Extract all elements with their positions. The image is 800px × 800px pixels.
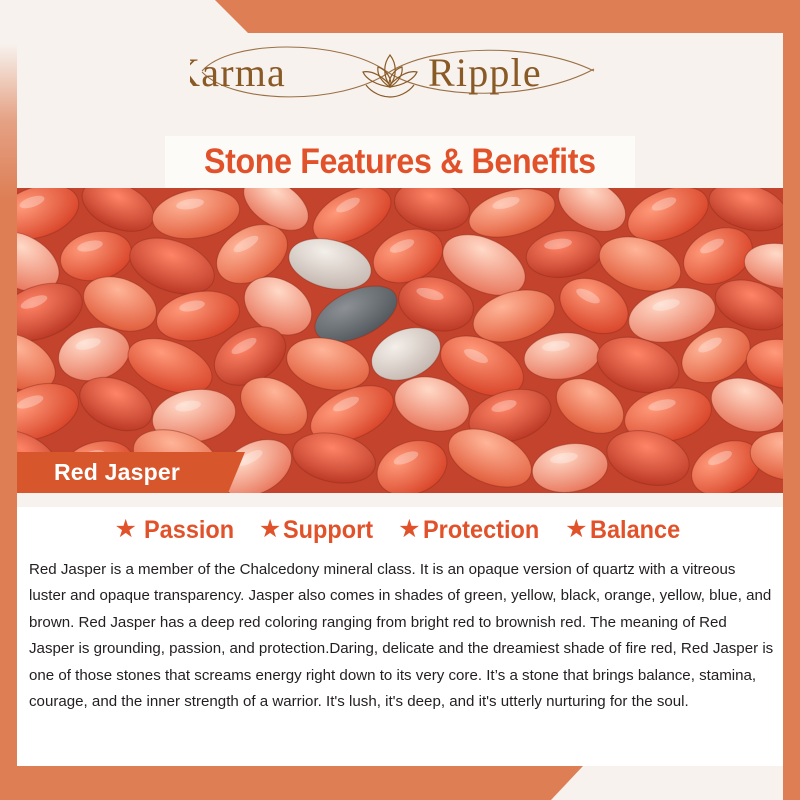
content-panel: ★ Passion ★ Support ★ Protection ★ Balan…: [17, 493, 783, 766]
benefit-label: Support: [283, 516, 373, 545]
product-infographic: Karma Ripple Stone Features & Benefits: [0, 0, 800, 800]
frame-left-fade: [0, 0, 17, 200]
benefit-item-passion: ★ Passion: [115, 516, 240, 545]
panel-top-fade: [17, 493, 783, 507]
stone-name: Red Jasper: [17, 459, 180, 486]
stone-description: Red Jasper is a member of the Chalcedony…: [29, 557, 775, 715]
stone-photo: [0, 188, 800, 493]
stone-photo-illustration: [0, 188, 800, 493]
star-icon: ★: [259, 517, 281, 542]
lotus-icon: [363, 55, 417, 97]
stone-name-tag: Red Jasper: [17, 452, 245, 493]
frame-right-border: [783, 33, 800, 800]
star-icon: ★: [115, 517, 137, 542]
page-title: Stone Features & Benefits: [204, 142, 596, 182]
brand-header: Karma Ripple: [17, 22, 783, 122]
brand-name-right: Ripple: [428, 50, 542, 95]
benefit-item-protection: ★ Protection: [398, 516, 546, 545]
benefit-label: Balance: [590, 516, 680, 545]
section-title-banner: Stone Features & Benefits: [165, 136, 635, 188]
benefit-label: Protection: [423, 516, 539, 545]
star-icon: ★: [398, 517, 420, 542]
benefits-row: ★ Passion ★ Support ★ Protection ★ Balan…: [17, 516, 783, 545]
benefit-item-balance: ★ Balance: [565, 516, 685, 545]
benefit-item-support: ★ Support: [259, 516, 379, 545]
star-icon: ★: [565, 517, 587, 542]
brand-logo: Karma Ripple: [190, 31, 610, 113]
brand-name-left: Karma: [190, 50, 286, 95]
benefit-label: Passion: [144, 516, 234, 545]
frame-bottom-border: [0, 766, 800, 800]
